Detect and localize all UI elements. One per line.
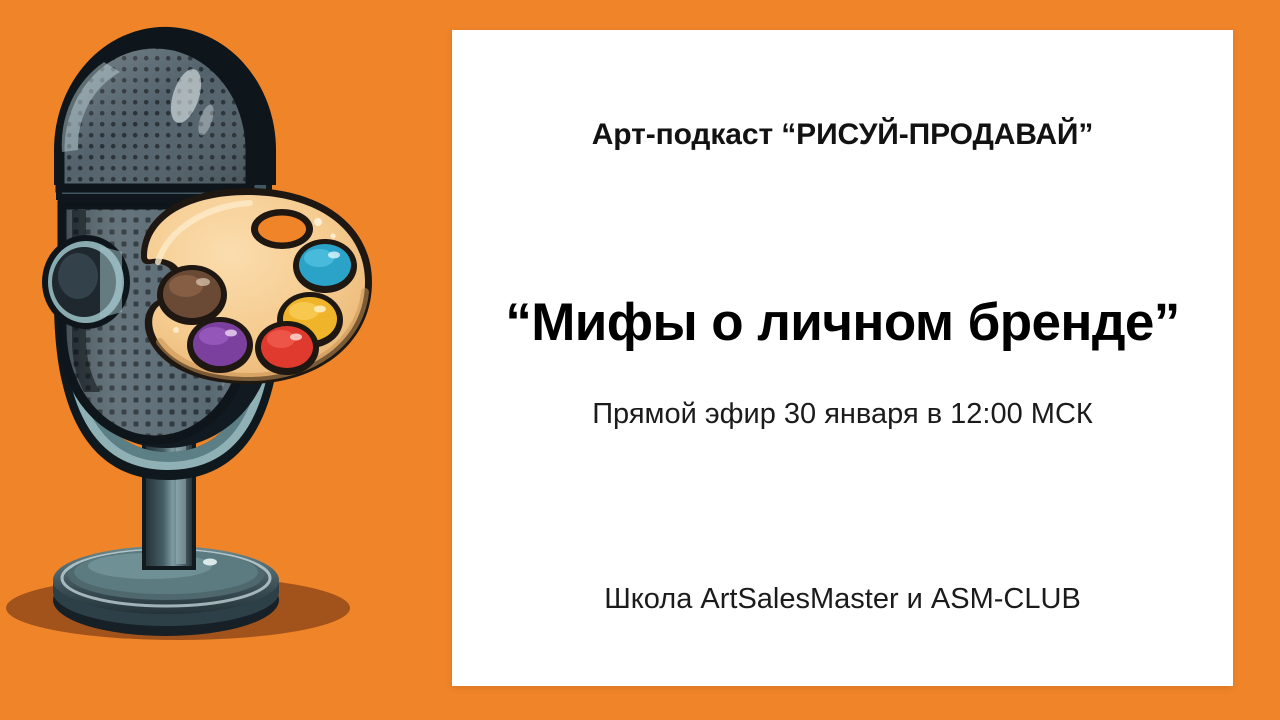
page-title: “Мифы о личном бренде”	[505, 292, 1179, 353]
microphone-side-knob	[42, 235, 130, 329]
thumb-hole	[251, 209, 313, 249]
purple-paint	[187, 317, 253, 373]
brown-paint	[157, 265, 227, 325]
organizer-credit: Школа ArtSalesMaster и ASM-CLUB	[604, 583, 1081, 616]
content-card: Арт-подкаст “РИСУЙ-ПРОДАВАЙ” “Мифы о лич…	[452, 30, 1233, 686]
podcast-microphone-illustration	[0, 0, 430, 720]
red-paint	[255, 321, 319, 375]
paint-palette	[141, 188, 372, 384]
microphone-head	[50, 27, 290, 200]
podcast-name: Арт-подкаст “РИСУЙ-ПРОДАВАЙ”	[592, 118, 1094, 152]
teal-paint	[293, 239, 357, 293]
broadcast-datetime: Прямой эфир 30 января в 12:00 МСК	[592, 398, 1093, 431]
